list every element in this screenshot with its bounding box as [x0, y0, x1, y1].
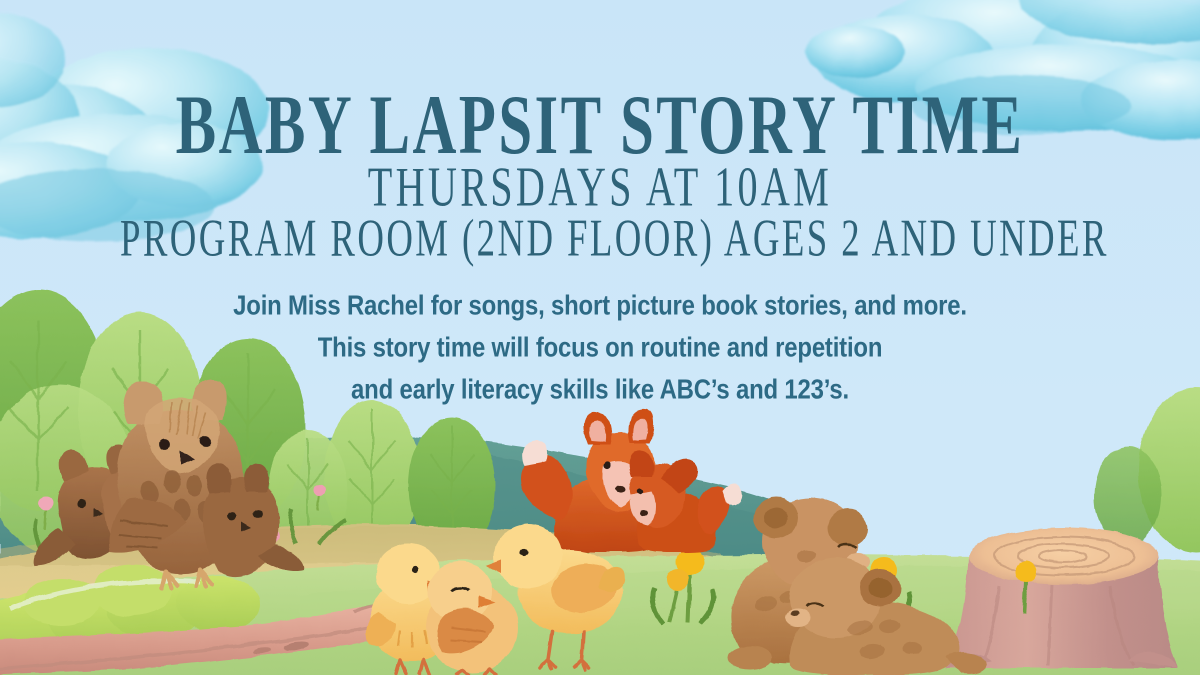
owl-chick-right — [203, 463, 304, 576]
fox-kit — [629, 450, 742, 552]
bear-cubs — [728, 497, 987, 675]
animals-layer — [0, 0, 1200, 675]
bear-cub-front — [786, 558, 987, 675]
fox-family — [521, 409, 742, 552]
owl-family — [33, 379, 304, 588]
poster-canvas: BABY LAPSIT STORY TIME THURSDAYS AT 10AM… — [0, 0, 1200, 675]
